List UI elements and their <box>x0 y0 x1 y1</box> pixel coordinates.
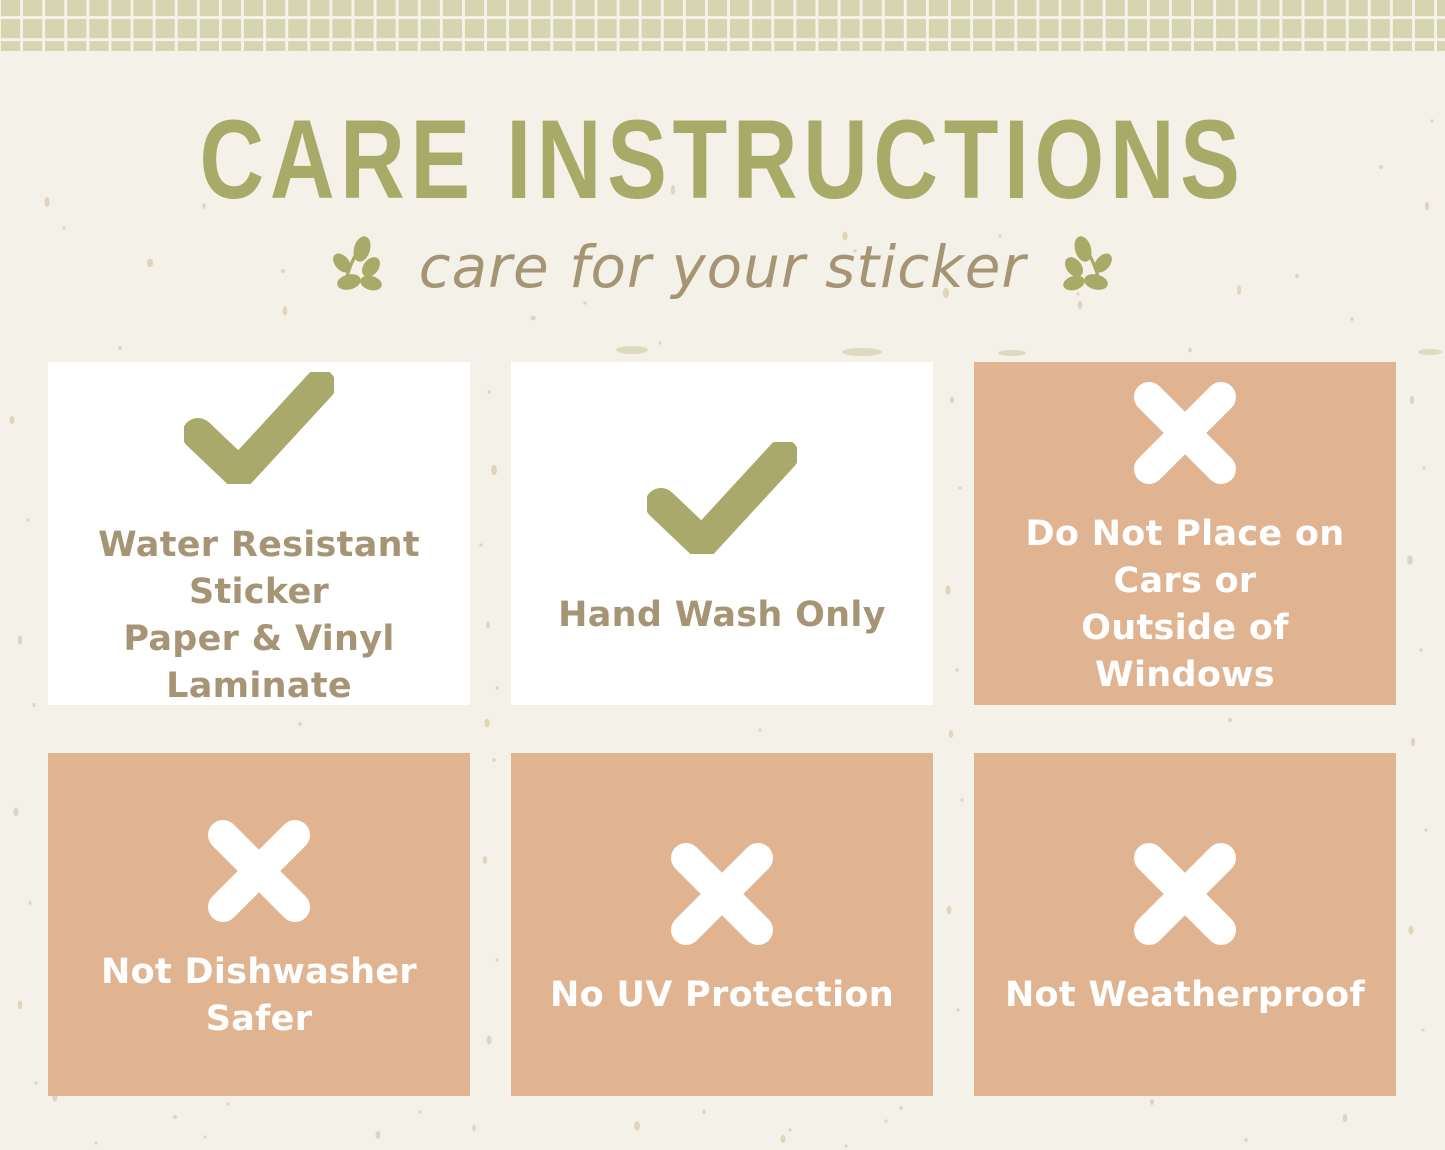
cross-icon <box>1131 842 1239 946</box>
checkered-header-band <box>0 0 1445 54</box>
check-icon-wrap <box>647 434 797 592</box>
care-card-hand-wash-only: Hand Wash Only <box>511 362 933 705</box>
cross-icon <box>668 842 776 946</box>
leaf-sprig-icon <box>1062 236 1118 298</box>
check-icon <box>647 442 797 554</box>
cross-icon-wrap <box>1131 836 1239 972</box>
care-card-no-uv-protection: No UV Protection <box>511 753 933 1096</box>
check-icon-wrap <box>184 364 334 522</box>
cross-icon <box>205 819 313 923</box>
care-instruction-grid: Water Resistant Sticker Paper & Vinyl La… <box>48 362 1396 1096</box>
cross-icon-wrap <box>1131 375 1239 511</box>
care-card-label: Not Weatherproof <box>1005 972 1365 1019</box>
care-card-no-cars-or-windows: Do Not Place on Cars or Outside of Windo… <box>974 362 1396 705</box>
care-card-not-dishwasher-safe: Not Dishwasher Safer <box>48 753 470 1096</box>
leaf-sprig-icon <box>327 236 383 298</box>
page-title: CARE INSTRUCTIONS <box>145 104 1301 216</box>
care-card-label: Water Resistant Sticker Paper & Vinyl La… <box>66 522 452 706</box>
page-subtitle: care for your sticker <box>419 236 1027 298</box>
care-card-label: No UV Protection <box>550 972 894 1019</box>
cross-icon-wrap <box>205 813 313 949</box>
care-card-label: Hand Wash Only <box>558 592 886 639</box>
cross-icon-wrap <box>668 836 776 972</box>
care-card-label: Do Not Place on Cars or Outside of Windo… <box>992 511 1378 699</box>
care-card-label: Not Dishwasher Safer <box>66 949 452 1043</box>
care-card-not-weatherproof: Not Weatherproof <box>974 753 1396 1096</box>
check-icon <box>184 372 334 484</box>
cross-icon <box>1131 381 1239 485</box>
subtitle-row: care for your sticker <box>0 236 1445 298</box>
care-card-water-resistant: Water Resistant Sticker Paper & Vinyl La… <box>48 362 470 705</box>
